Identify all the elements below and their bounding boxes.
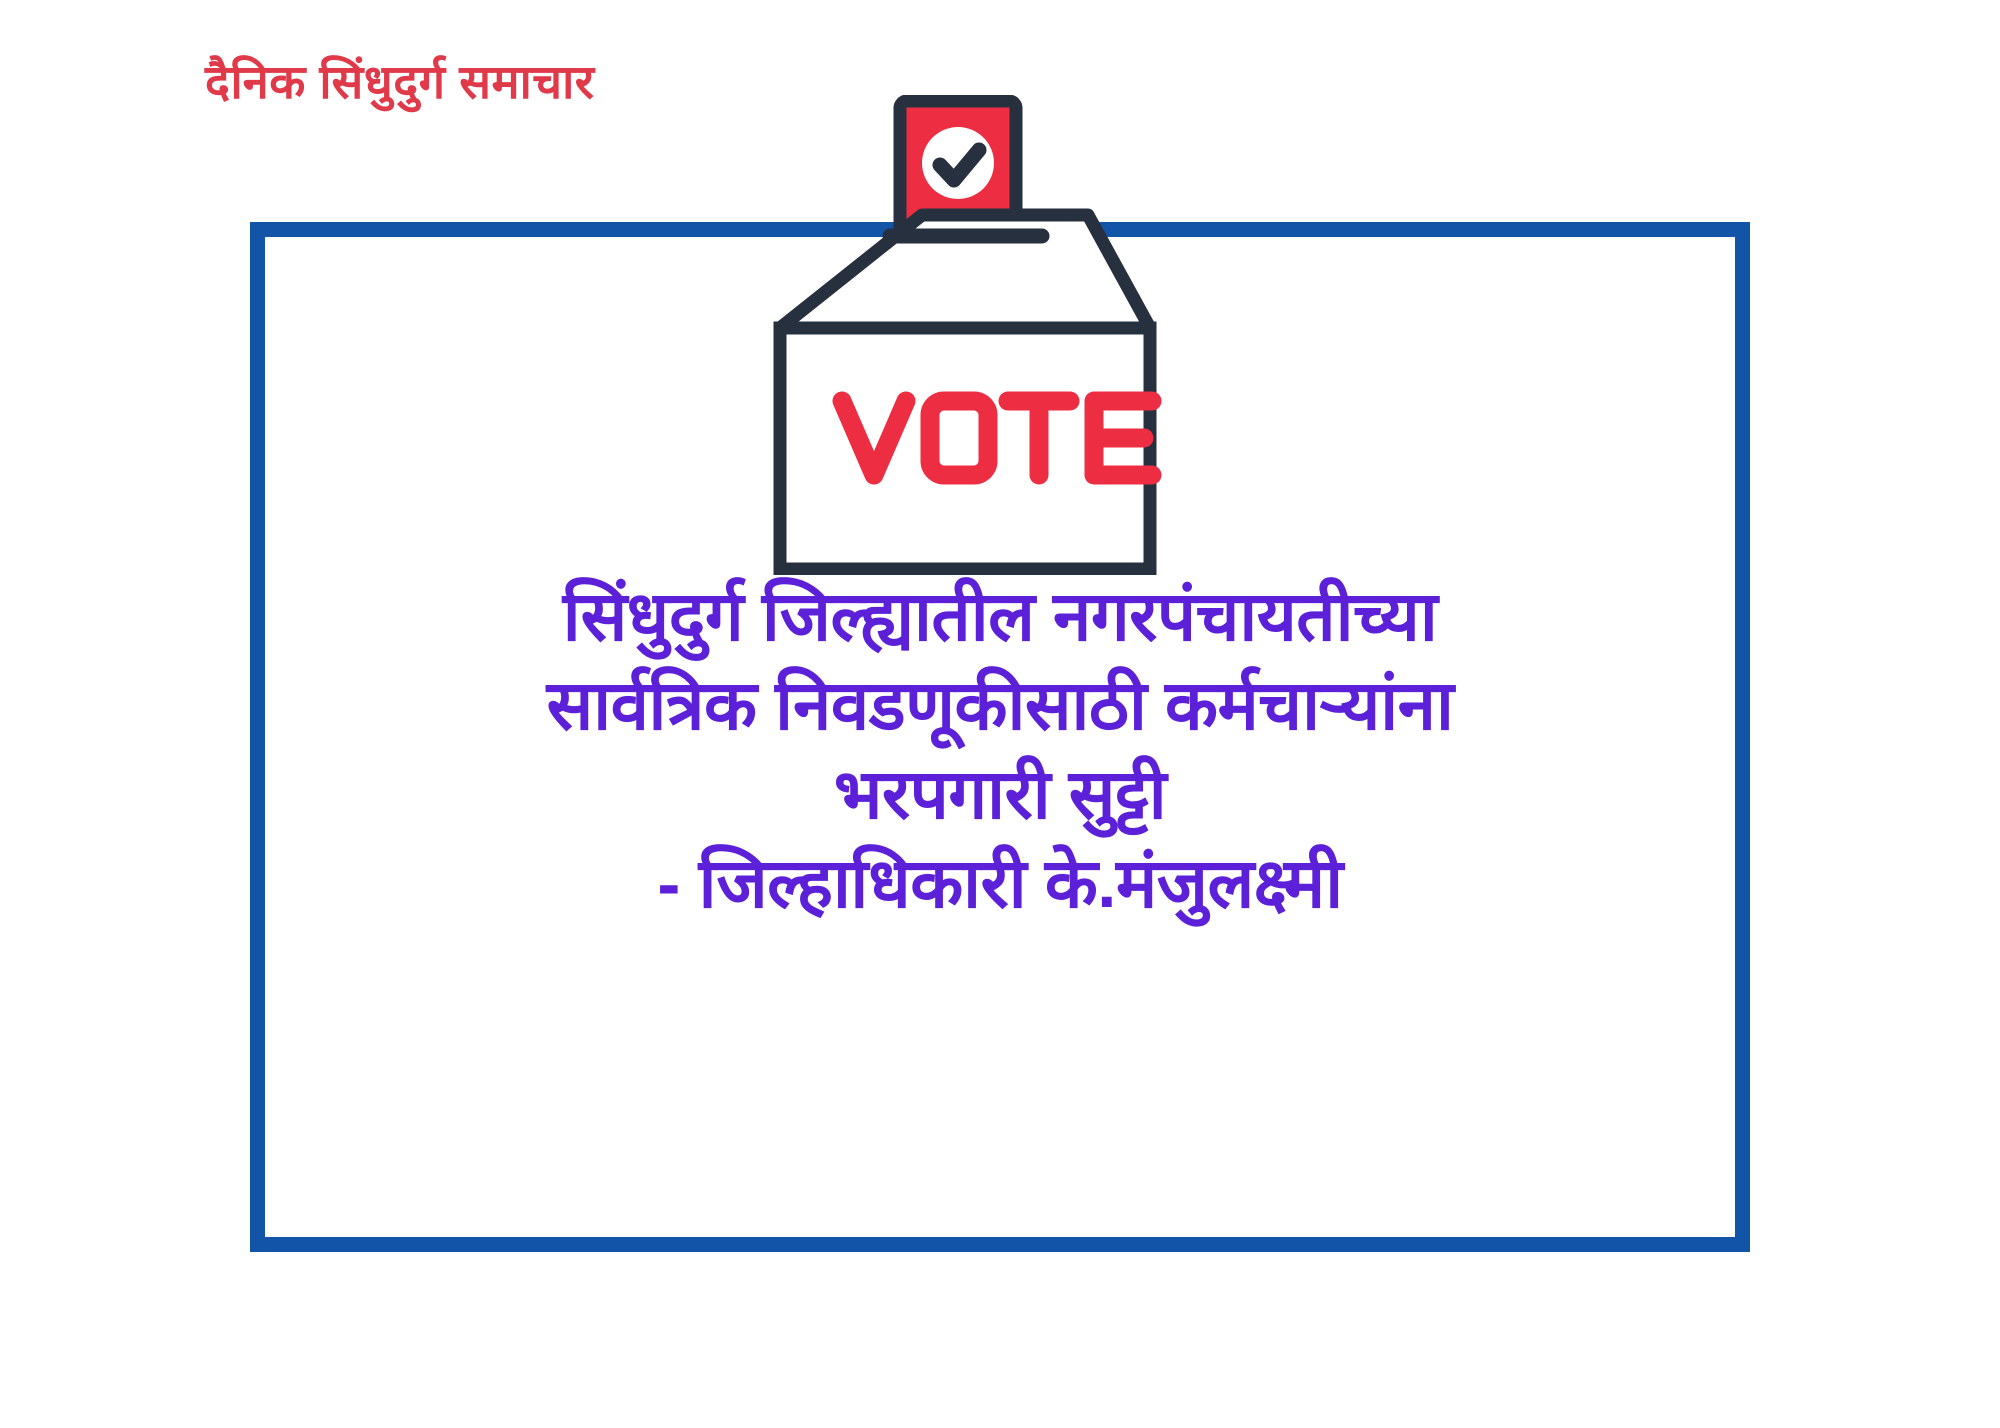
headline-line-4: - जिल्हाधिकारी के.मंजुलक्ष्मी bbox=[250, 839, 1750, 928]
headline-line-2: सार्वत्रिक निवडणूकीसाठी कर्मचाऱ्यांना bbox=[250, 661, 1750, 750]
headline-line-3: भरपगारी सुट्टी bbox=[250, 750, 1750, 839]
news-graphic-poster: दैनिक सिंधुदुर्ग समाचार bbox=[0, 0, 2000, 1428]
ballot-box-icon: VOTE bbox=[770, 95, 1240, 575]
headline-line-1: सिंधुदुर्ग जिल्ह्यातील नगरपंचायतीच्या bbox=[250, 572, 1750, 661]
headline-block: सिंधुदुर्ग जिल्ह्यातील नगरपंचायतीच्या सा… bbox=[250, 572, 1750, 928]
publication-masthead: दैनिक सिंधुदुर्ग समाचार bbox=[205, 56, 595, 108]
